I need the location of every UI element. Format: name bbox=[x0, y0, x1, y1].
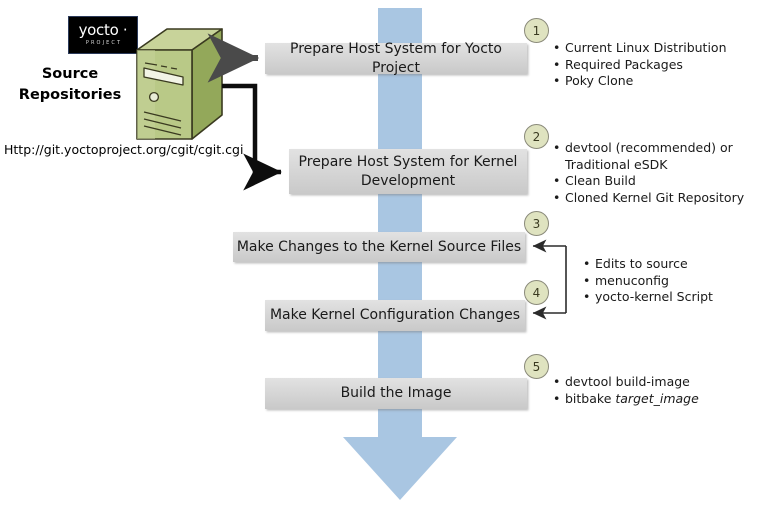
list-item: yocto-kernel Script bbox=[583, 289, 758, 306]
source-label-line2: Repositories bbox=[8, 85, 132, 106]
main-flow-arrow-head bbox=[343, 437, 457, 500]
bullet-text: devtool build-image bbox=[565, 374, 690, 389]
connector-server-to-step2 bbox=[222, 86, 281, 172]
list-item: Current Linux Distribution bbox=[553, 40, 763, 57]
process-box-step-3[interactable]: Make Changes to the Kernel Source Files bbox=[233, 232, 525, 262]
source-repositories-label: Source Repositories bbox=[8, 64, 132, 106]
process-box-step-3-label: Make Changes to the Kernel Source Files bbox=[237, 238, 521, 257]
bullet-text: Poky Clone bbox=[565, 73, 633, 88]
list-item: devtool build-image bbox=[553, 374, 753, 391]
process-box-step-1[interactable]: Prepare Host System for Yocto Project bbox=[265, 43, 527, 74]
bullet-text: Required Packages bbox=[565, 57, 683, 72]
process-box-step-2-line1: Prepare Host System for Kernel bbox=[299, 154, 518, 170]
bullet-list-step-1: Current Linux Distribution Required Pack… bbox=[553, 40, 763, 90]
list-item: menuconfig bbox=[583, 273, 758, 290]
server-tower-icon bbox=[133, 27, 225, 144]
process-box-step-2-line2: Development bbox=[361, 173, 455, 189]
bullet-text-continuation: Traditional eSDK bbox=[565, 157, 765, 174]
bullet-list-step-2: devtool (recommended) or Traditional eSD… bbox=[553, 140, 765, 206]
bullet-text: Current Linux Distribution bbox=[565, 40, 727, 55]
bullet-list-step-5: devtool build-image bitbake target_image bbox=[553, 374, 753, 407]
list-item: devtool (recommended) or Traditional eSD… bbox=[553, 140, 765, 173]
list-item: Clean Build bbox=[553, 173, 765, 190]
bullet-text: bitbake bbox=[565, 391, 615, 406]
step-number-2: 2 bbox=[524, 124, 549, 149]
step-number-4: 4 bbox=[524, 280, 549, 305]
source-label-line1: Source bbox=[8, 64, 132, 85]
step-number-2-value: 2 bbox=[533, 130, 541, 144]
list-item: Required Packages bbox=[553, 57, 763, 74]
bullet-text: Edits to source bbox=[595, 256, 688, 271]
list-item: Cloned Kernel Git Repository bbox=[553, 190, 765, 207]
step-number-3: 3 bbox=[524, 211, 549, 236]
repository-url: Http://git.yoctoproject.org/cgit/cgit.cg… bbox=[4, 142, 243, 157]
step-number-5-value: 5 bbox=[533, 360, 541, 374]
process-box-step-5-label: Build the Image bbox=[341, 384, 452, 403]
step-number-4-value: 4 bbox=[533, 286, 541, 300]
list-item: Poky Clone bbox=[553, 73, 763, 90]
step-number-1: 1 bbox=[524, 18, 549, 43]
list-item: Edits to source bbox=[583, 256, 758, 273]
logo-wordmark: yocto · bbox=[79, 23, 128, 38]
list-item: bitbake target_image bbox=[553, 391, 753, 408]
bullet-text: devtool (recommended) or bbox=[565, 140, 733, 155]
process-box-step-4-label: Make Kernel Configuration Changes bbox=[270, 306, 520, 325]
step-number-3-value: 3 bbox=[533, 217, 541, 231]
bullet-text: yocto-kernel Script bbox=[595, 289, 713, 304]
step-number-1-value: 1 bbox=[533, 24, 541, 38]
bullet-text-italic: target_image bbox=[615, 391, 698, 406]
yocto-project-logo: yocto · PROJECT bbox=[68, 16, 138, 54]
bullet-text: Clean Build bbox=[565, 173, 636, 188]
process-box-step-2[interactable]: Prepare Host System for Kernel Developme… bbox=[289, 149, 527, 194]
process-box-step-5[interactable]: Build the Image bbox=[265, 378, 527, 409]
bullet-list-steps-3-4: Edits to source menuconfig yocto-kernel … bbox=[583, 256, 758, 306]
step-number-5: 5 bbox=[524, 354, 549, 379]
process-box-step-2-label: Prepare Host System for Kernel Developme… bbox=[299, 153, 518, 191]
process-box-step-1-label: Prepare Host System for Yocto Project bbox=[265, 40, 527, 78]
logo-subtext: PROJECT bbox=[86, 39, 122, 47]
process-box-step-4[interactable]: Make Kernel Configuration Changes bbox=[265, 300, 525, 331]
workflow-diagram: yocto · PROJECT Source Repositories Http… bbox=[0, 0, 769, 517]
bullet-text: Cloned Kernel Git Repository bbox=[565, 190, 744, 205]
bullet-text: menuconfig bbox=[595, 273, 669, 288]
